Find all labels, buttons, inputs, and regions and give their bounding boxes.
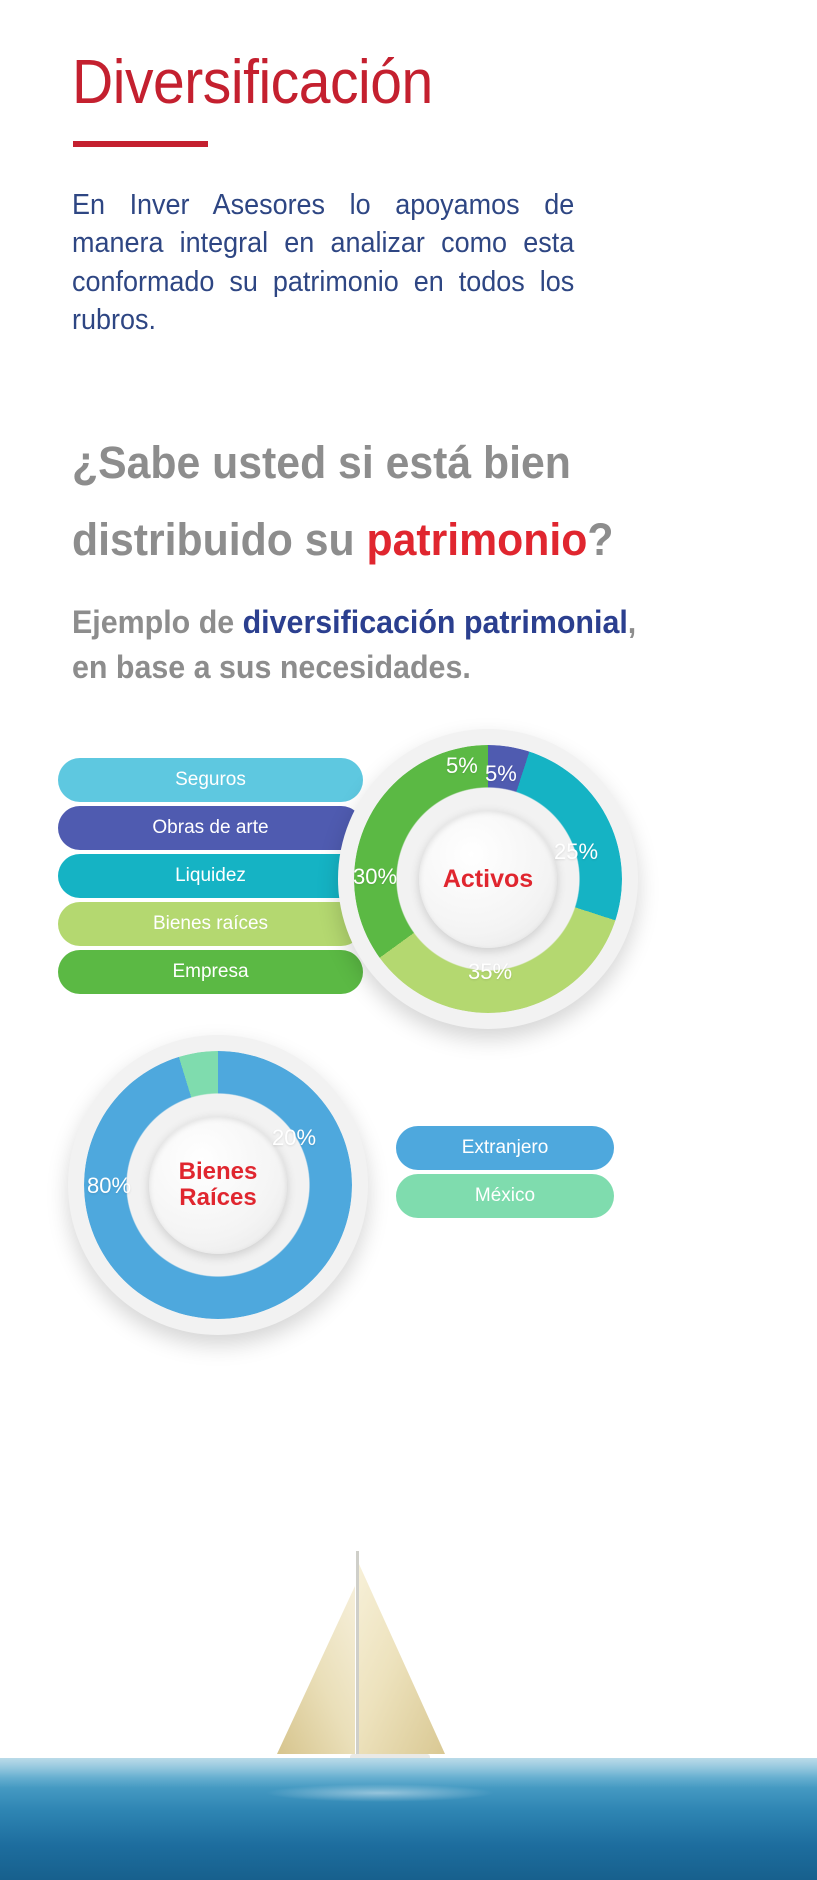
- example-text-part1: Ejemplo de: [72, 604, 243, 640]
- intro-paragraph: En Inver Asesores lo apoyamos de manera …: [72, 186, 574, 339]
- donut-center-hub-activos: Activos: [419, 810, 557, 948]
- legend-item-label: Extranjero: [396, 1137, 614, 1159]
- donut-value-label-extranjero: 20%: [272, 1125, 316, 1151]
- donut-center-hub-bienes: Bienes Raíces: [149, 1116, 287, 1254]
- boat-reflection: [265, 1784, 495, 1802]
- donut-value-label-seguros: 5%: [446, 753, 478, 779]
- title-underline-rule: [73, 141, 208, 147]
- legend-item-label: Liquidez: [58, 865, 363, 887]
- question-text-part2: ?: [587, 514, 613, 565]
- legend-item-label: Seguros: [58, 769, 363, 791]
- donut-center-label-line1: Bienes: [179, 1159, 258, 1185]
- mainsail-icon: [359, 1564, 445, 1754]
- jib-sail-icon: [277, 1586, 355, 1754]
- donut-value-label-obras: 5%: [485, 761, 517, 787]
- donut-value-label-liquidez: 25%: [554, 839, 598, 865]
- legend-item-seguros[interactable]: Seguros: [58, 758, 363, 802]
- donut-center-label-bienes: Bienes Raíces: [179, 1159, 258, 1211]
- legend-item-label: Empresa: [58, 961, 363, 983]
- donut-chart-activos: Activos 5% 5% 25% 35% 30%: [338, 729, 638, 1029]
- legend-item-extranjero[interactable]: Extranjero: [396, 1126, 614, 1170]
- legend-item-empresa[interactable]: Empresa: [58, 950, 363, 994]
- donut-value-label-bienes: 35%: [468, 959, 512, 985]
- ocean-scene: CATAMARAN 2: [0, 1440, 817, 1880]
- legend-bienes-raices: ExtranjeroMéxico: [396, 1126, 614, 1222]
- legend-item-liquidez[interactable]: Liquidez: [58, 854, 363, 898]
- legend-activos: SegurosObras de arteLiquidezBienes raíce…: [58, 758, 363, 998]
- example-subheading: Ejemplo de diversificación patrimonial, …: [72, 600, 661, 691]
- donut-value-label-empresa: 30%: [353, 864, 397, 890]
- legend-item-obras-de-arte[interactable]: Obras de arte: [58, 806, 363, 850]
- example-highlight-diversificacion: diversificación patrimonial: [243, 604, 628, 640]
- page-title: Diversificación: [72, 52, 433, 114]
- legend-item-label: México: [396, 1185, 614, 1207]
- question-heading: ¿Sabe usted si está bien distribuido su …: [72, 424, 661, 579]
- infographic-page: Diversificación En Inver Asesores lo apo…: [0, 0, 817, 1880]
- legend-item-m-xico[interactable]: México: [396, 1174, 614, 1218]
- mast-icon: [356, 1551, 359, 1756]
- legend-item-bienes-ra-ces[interactable]: Bienes raíces: [58, 902, 363, 946]
- legend-item-label: Obras de arte: [58, 817, 363, 839]
- sailboat-graphic: CATAMARAN 2: [255, 1544, 555, 1784]
- donut-chart-bienes-raices: Bienes Raíces 80% 20%: [68, 1035, 368, 1335]
- legend-item-label: Bienes raíces: [58, 913, 363, 935]
- donut-center-label-line2: Raíces: [179, 1185, 258, 1211]
- donut-center-label-activos: Activos: [443, 866, 533, 893]
- question-highlight-patrimonio: patrimonio: [367, 514, 588, 565]
- donut-value-label-mexico: 80%: [87, 1173, 131, 1199]
